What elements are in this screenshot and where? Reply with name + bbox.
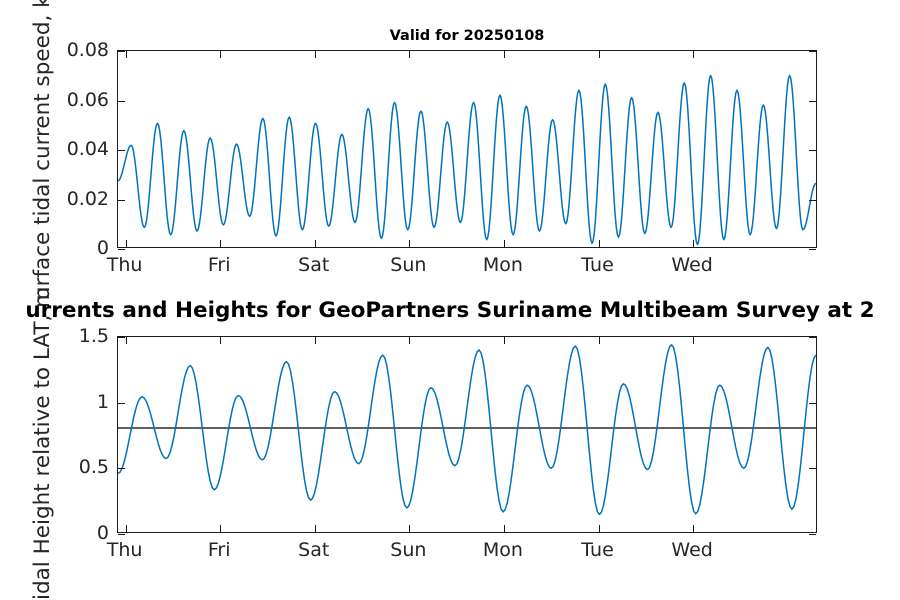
x-tick-sun — [409, 240, 410, 247]
axes-tidal-height — [117, 336, 817, 533]
tidal-height-plot-area — [118, 337, 816, 532]
subplot-title-current-speed: Valid for 20250108 — [117, 28, 817, 44]
x-tick-top-thu — [126, 337, 127, 344]
y-tick-right-0.5 — [809, 468, 816, 469]
x-tick-top-sun — [409, 337, 410, 344]
x-tick-label-wed: Wed — [671, 539, 712, 561]
y-tick-label-0: 0 — [97, 237, 109, 259]
y-tick-label-0.04: 0.04 — [67, 138, 109, 160]
x-tick-top-fri — [220, 51, 221, 58]
y-tick-right-1.5 — [809, 337, 816, 338]
x-tick-label-wed: Wed — [671, 254, 712, 276]
x-tick-top-tue — [599, 51, 600, 58]
x-tick-label-tue: Tue — [581, 539, 613, 561]
x-tick-label-fri: Fri — [208, 539, 231, 561]
current-speed-plot-area — [118, 51, 816, 247]
x-tick-top-sat — [315, 337, 316, 344]
x-tick-top-wed — [693, 337, 694, 344]
y-tick-right-0 — [809, 249, 816, 250]
figure-canvas: Valid for 20250108 urface tidal current … — [0, 0, 900, 600]
y-tick-label-0: 0 — [97, 522, 109, 544]
y-tick-right-0 — [809, 534, 816, 535]
x-tick-top-wed — [693, 51, 694, 58]
y-tick-0 — [118, 534, 125, 535]
x-tick-tue — [599, 240, 600, 247]
y-axis-label-current-speed: urface tidal current speed, kn — [30, 0, 55, 300]
x-tick-thu — [126, 240, 127, 247]
axes-current-speed — [117, 50, 817, 248]
x-tick-label-mon: Mon — [483, 254, 523, 276]
x-tick-top-mon — [504, 51, 505, 58]
x-tick-top-sun — [409, 51, 410, 58]
x-tick-label-thu: Thu — [107, 254, 143, 276]
x-tick-wed — [693, 240, 694, 247]
y-tick-right-0.02 — [809, 200, 816, 201]
x-tick-label-sat: Sat — [298, 539, 329, 561]
x-tick-label-sun: Sun — [390, 254, 426, 276]
y-tick-right-1 — [809, 403, 816, 404]
y-tick-label-0.08: 0.08 — [67, 39, 109, 61]
series-surface-tidal-current-speed — [118, 76, 816, 245]
y-tick-1 — [118, 403, 125, 404]
x-tick-tue — [599, 525, 600, 532]
y-tick-0.06 — [118, 101, 125, 102]
y-tick-label-0.06: 0.06 — [67, 89, 109, 111]
y-tick-0.08 — [118, 51, 125, 52]
y-tick-label-0.5: 0.5 — [79, 456, 109, 478]
y-tick-label-1.5: 1.5 — [79, 325, 109, 347]
x-tick-label-thu: Thu — [107, 539, 143, 561]
x-tick-mon — [504, 525, 505, 532]
y-axis-label-tidal-height: idal Height relative to LAT, m — [30, 287, 55, 600]
y-tick-label-1: 1 — [97, 391, 109, 413]
x-tick-label-sat: Sat — [298, 254, 329, 276]
y-tick-label-0.02: 0.02 — [67, 188, 109, 210]
x-tick-top-mon — [504, 337, 505, 344]
x-tick-fri — [220, 240, 221, 247]
y-tick-0.02 — [118, 200, 125, 201]
x-tick-label-fri: Fri — [208, 254, 231, 276]
x-tick-fri — [220, 525, 221, 532]
y-tick-right-0.08 — [809, 51, 816, 52]
x-tick-sat — [315, 240, 316, 247]
y-tick-0 — [118, 249, 125, 250]
y-tick-0.5 — [118, 468, 125, 469]
y-tick-right-0.06 — [809, 101, 816, 102]
y-tick-1.5 — [118, 337, 125, 338]
x-tick-top-sat — [315, 51, 316, 58]
x-tick-label-tue: Tue — [581, 254, 613, 276]
series-tidal-height — [118, 345, 816, 515]
x-tick-sat — [315, 525, 316, 532]
x-tick-top-tue — [599, 337, 600, 344]
x-tick-wed — [693, 525, 694, 532]
y-tick-0.04 — [118, 150, 125, 151]
x-tick-top-thu — [126, 51, 127, 58]
x-tick-mon — [504, 240, 505, 247]
x-tick-thu — [126, 525, 127, 532]
x-tick-sun — [409, 525, 410, 532]
x-tick-label-sun: Sun — [390, 539, 426, 561]
figure-main-title: urrents and Heights for GeoPartners Suri… — [25, 298, 874, 323]
x-tick-top-fri — [220, 337, 221, 344]
x-tick-label-mon: Mon — [483, 539, 523, 561]
y-tick-right-0.04 — [809, 150, 816, 151]
